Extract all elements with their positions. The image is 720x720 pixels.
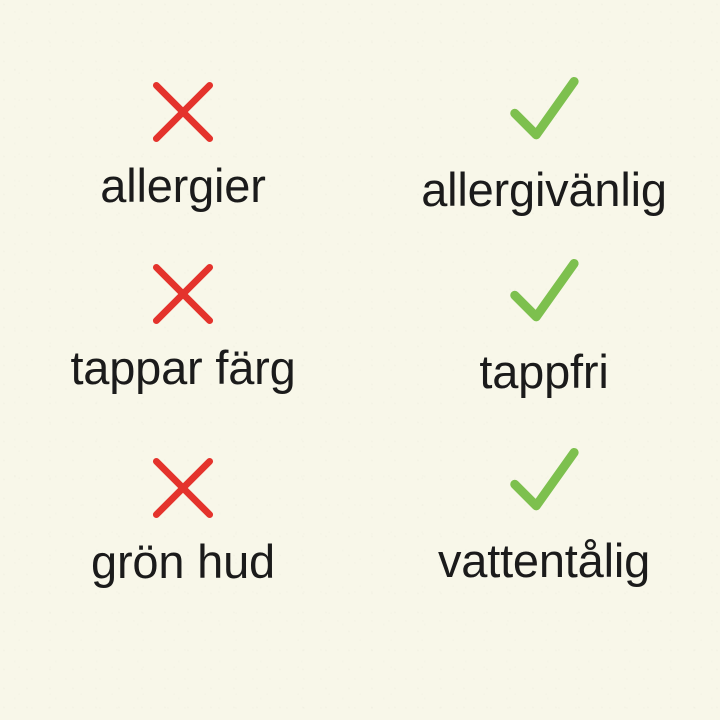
comparison-cell-positive-2: tappfri [360, 229, 720, 422]
comparison-label-negative-3: grön hud [91, 538, 275, 587]
comparison-label-positive-1: allergivänlig [421, 166, 667, 215]
comparison-label-positive-3: vattentålig [438, 537, 650, 586]
cross-icon [147, 258, 219, 330]
comparison-graphic: allergier allergivänlig tappar färg [0, 0, 720, 720]
comparison-cell-positive-3: vattentålig [360, 423, 720, 616]
check-icon [501, 437, 587, 523]
comparison-cell-negative-3: grön hud [0, 423, 360, 616]
comparison-cell-negative-2: tappar färg [0, 229, 360, 422]
comparison-grid: allergier allergivänlig tappar färg [0, 0, 720, 720]
check-icon [501, 66, 587, 152]
comparison-label-negative-2: tappar färg [70, 344, 295, 393]
cross-icon [147, 452, 219, 524]
check-icon [501, 248, 587, 334]
comparison-cell-positive-1: allergivänlig [360, 36, 720, 229]
comparison-cell-negative-1: allergier [0, 36, 360, 229]
cross-icon [147, 76, 219, 148]
comparison-label-negative-1: allergier [100, 162, 265, 211]
comparison-label-positive-2: tappfri [479, 348, 608, 397]
